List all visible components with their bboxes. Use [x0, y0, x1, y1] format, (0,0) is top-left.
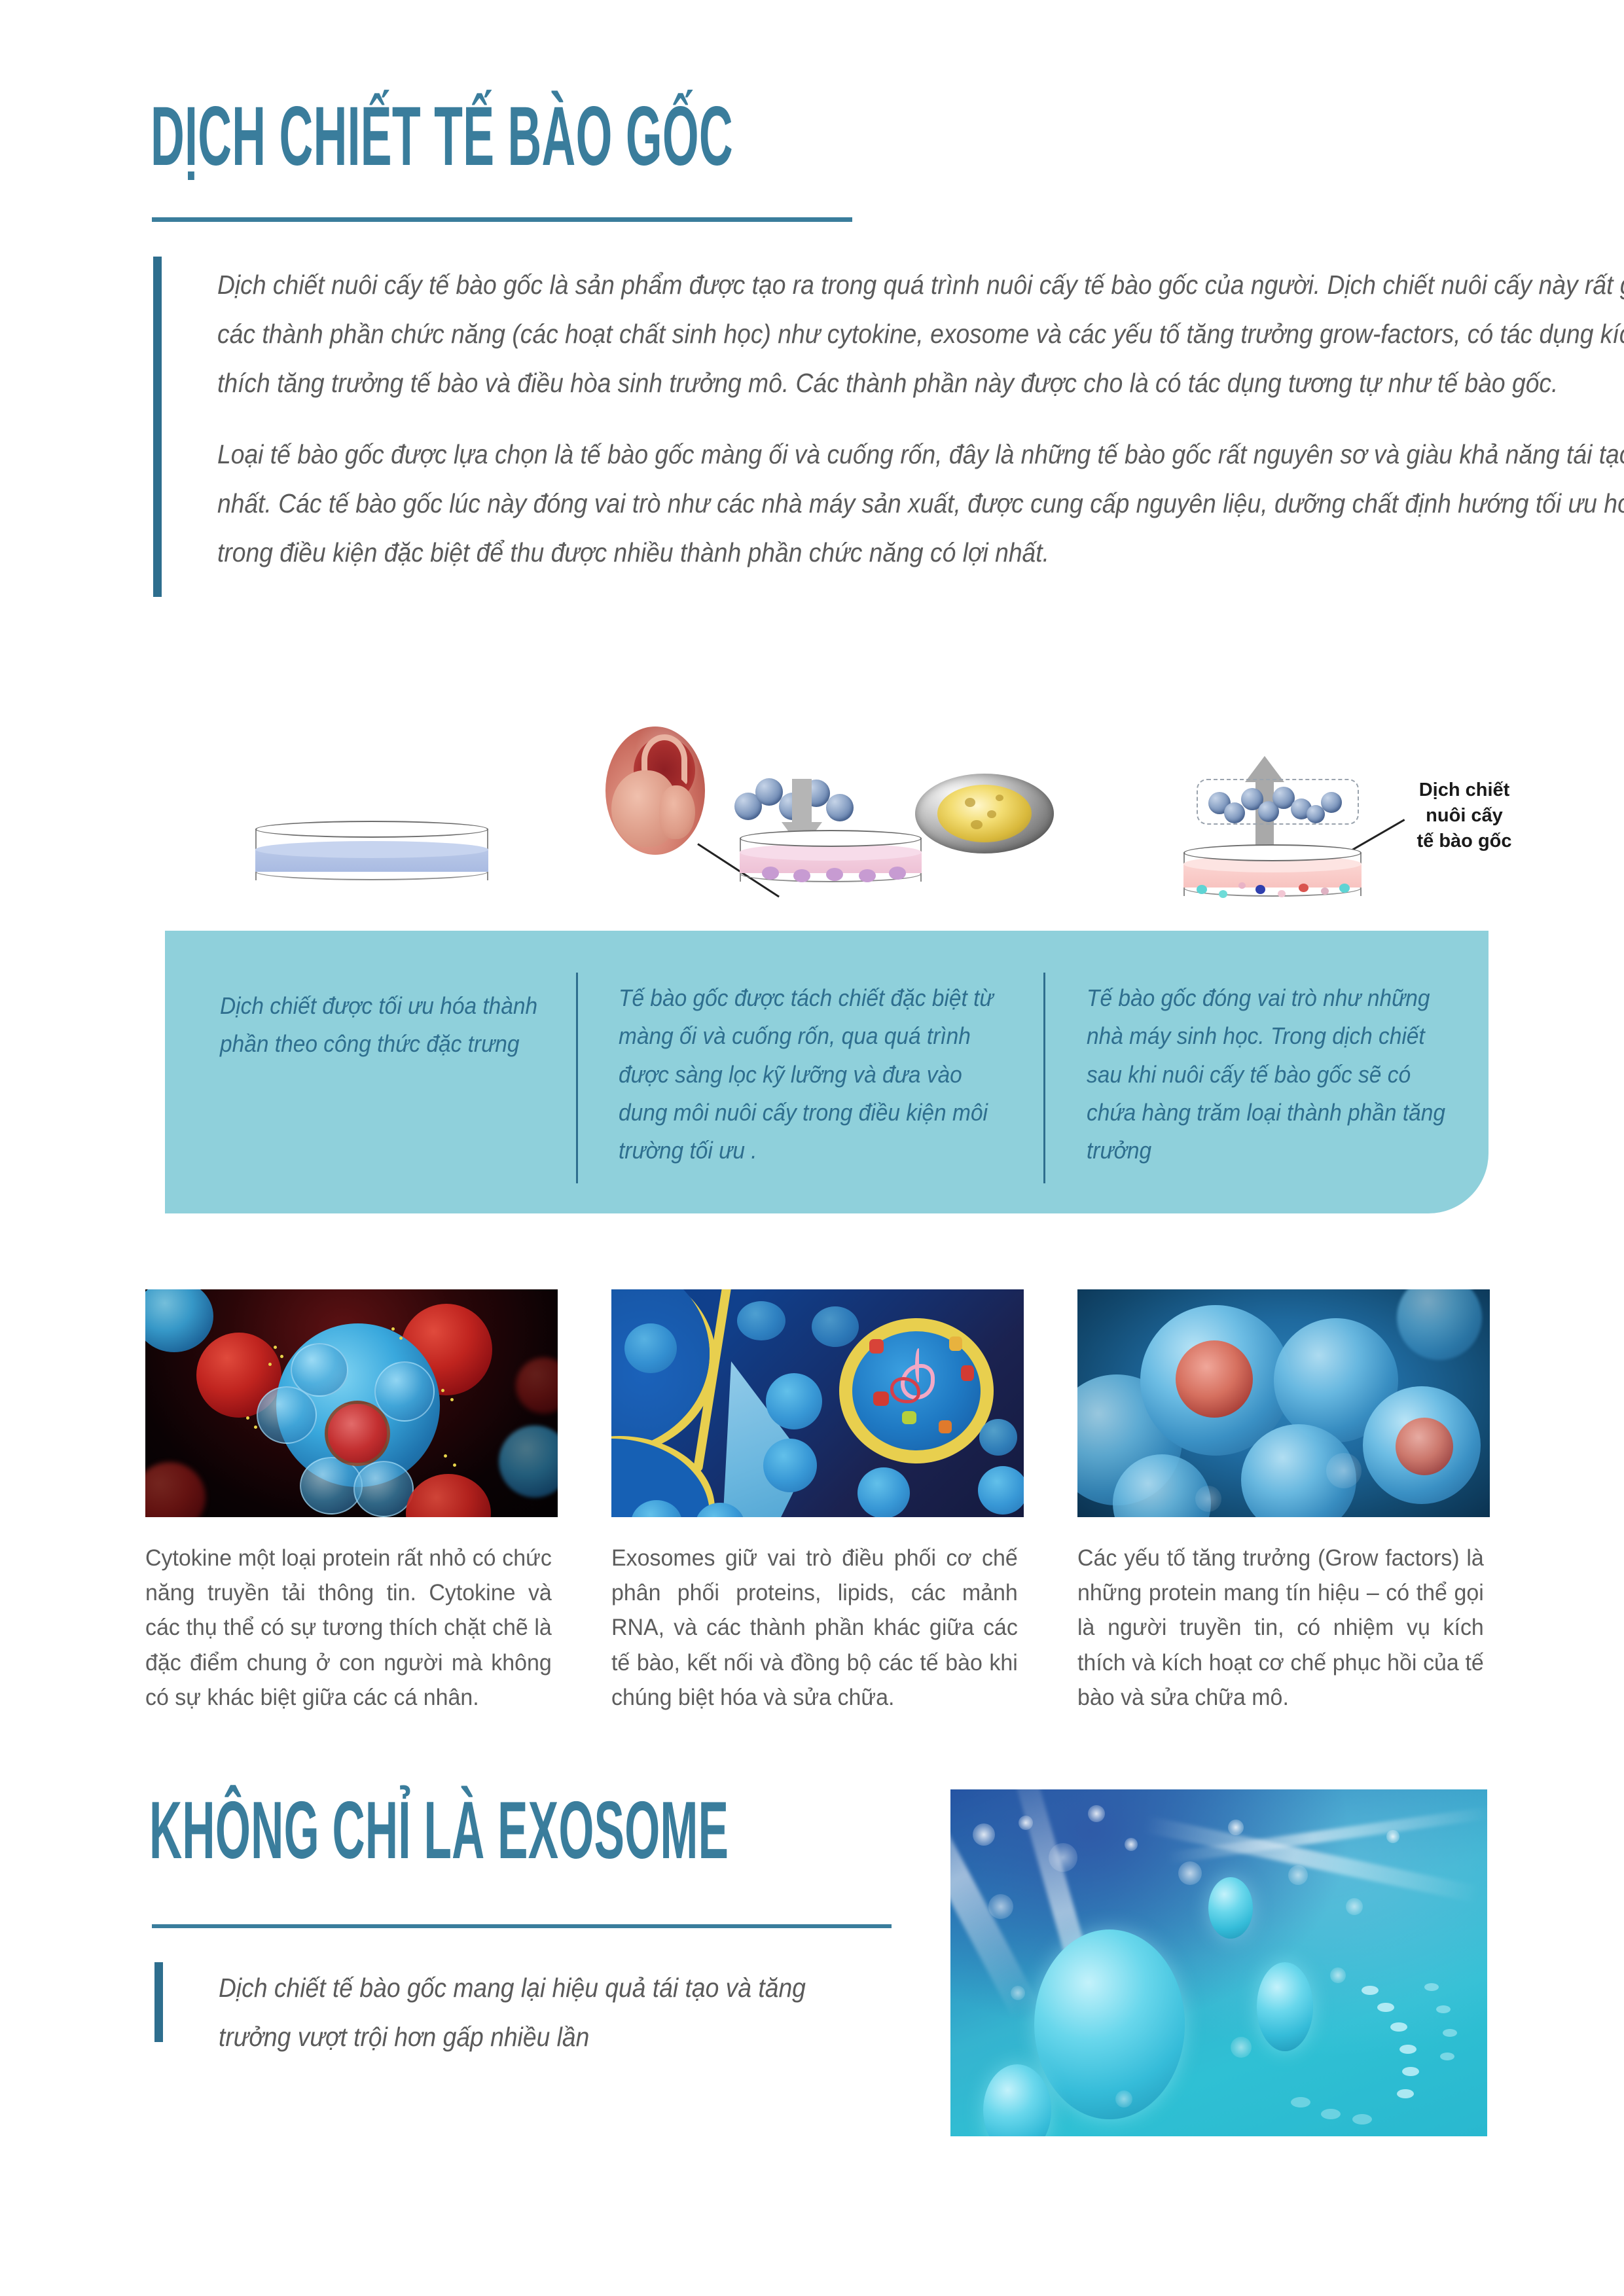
callout-line-3: tế bào gốc [1389, 829, 1540, 854]
steel-culture-dish-icon [915, 774, 1054, 853]
panel-column-3: Tế bào gốc đóng vai trò như những nhà má… [1087, 979, 1458, 1170]
product-petri-dish-icon [1183, 844, 1362, 905]
panel-divider-2 [1043, 973, 1045, 1183]
cytokine-microscopy-image [145, 1289, 558, 1517]
section-two-paragraph: Dịch chiết tế bào gốc mang lại hiệu quả … [219, 1964, 857, 2062]
card-caption-3: Các yếu tố tăng trưởng (Grow factors) là… [1077, 1541, 1484, 1715]
diagram-callout-label: Dịch chiết nuôi cấy tế bào gốc [1389, 778, 1540, 854]
petri-dish-icon [255, 821, 488, 889]
process-diagram: Dịch chiết nuôi cấy tế bào gốc [0, 0, 1624, 942]
exosome-illustration-image [611, 1289, 1024, 1517]
extract-bead-cluster-icon [1204, 779, 1355, 826]
fetus-in-womb-icon [605, 726, 705, 855]
panel-divider-1 [576, 973, 578, 1183]
panel-column-2: Tế bào gốc được tách chiết đặc biệt từ m… [619, 979, 1008, 1170]
document-page: DỊCH CHIẾT TẾ BÀO GỐC Dịch chiết nuôi cấ… [0, 0, 1624, 2296]
card-caption-2: Exosomes giữ vai trò điều phối cơ chế ph… [611, 1541, 1018, 1715]
stem-cells-dna-background-image [950, 1789, 1487, 2136]
culture-dish-with-cells-icon [740, 830, 922, 890]
section-two-underline [152, 1924, 892, 1928]
card-caption-1: Cytokine một loại protein rất nhỏ có chứ… [145, 1541, 552, 1715]
growth-factor-cells-image [1077, 1289, 1490, 1517]
section-two-accent-bar [154, 1962, 163, 2042]
callout-line-1: Dịch chiết [1389, 778, 1540, 803]
panel-column-1: Dịch chiết được tối ưu hóa thành phần th… [220, 987, 561, 1064]
callout-line-2: nuôi cấy [1389, 803, 1540, 829]
section-two-title: KHÔNG CHỈ LÀ EXOSOME [149, 1793, 809, 1868]
